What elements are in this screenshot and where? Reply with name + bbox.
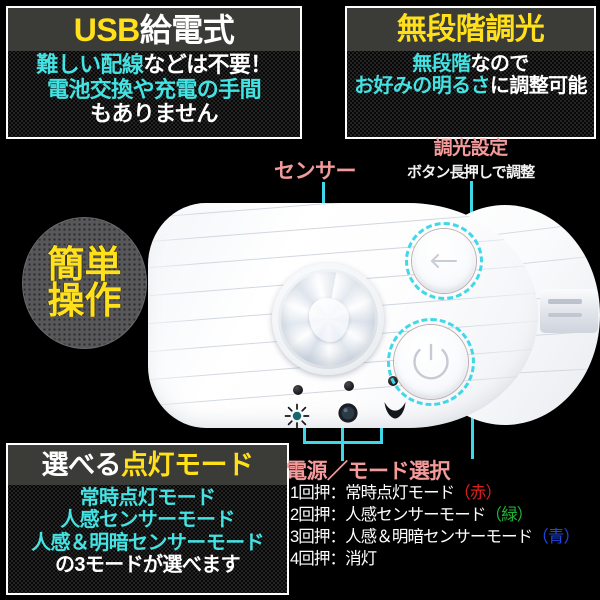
- panel-modes-header: 選べる点灯モード: [8, 445, 287, 485]
- list-item: 1回押：常時点灯モード（赤）: [290, 483, 598, 505]
- panel-usb-header: USB給電式: [8, 8, 300, 51]
- panel-dimming-line-1: 無段階なので: [347, 53, 594, 75]
- led-indicator-1: [293, 385, 303, 395]
- panel-usb-body: 難しい配線などは不要！ 電池交換や充電の手間 もありません: [8, 51, 300, 137]
- callout-sensor-label: センサー: [274, 160, 356, 183]
- power-button[interactable]: [394, 325, 468, 399]
- panel-modes-header-sub: 点灯モード: [121, 452, 254, 479]
- motion-person-icon: [336, 401, 360, 425]
- pir-sensor-dome: [272, 263, 384, 375]
- sensor-fresnel-facet: [309, 298, 349, 342]
- callout-dim-setting-sub: ボタン長押しで調整: [407, 161, 534, 182]
- panel-usb-line-2: 電池交換や充電の手間: [8, 78, 300, 103]
- panel-modes-body: 常時点灯モード 人感センサーモード 人感＆明暗センサーモード の3モードが選べま…: [8, 485, 287, 593]
- panel-dimming-line-2: お好みの明るさに調整可能: [347, 75, 594, 97]
- callout-dim-setting-title: 調光設定: [434, 138, 508, 159]
- panel-usb-header-main: USB: [74, 14, 140, 46]
- callout-power-mode-title: 電源／モード選択: [286, 460, 450, 483]
- panel-dimming-header: 無段階調光: [347, 8, 594, 51]
- sensor-lens: [281, 272, 375, 366]
- callout-sensor: センサー: [274, 155, 356, 185]
- badge-line-1: 簡単: [48, 247, 122, 283]
- infographic-canvas: USB給電式 難しい配線などは不要！ 電池交換や充電の手間 もありません 無段階…: [0, 0, 600, 600]
- leader-line-indicator-drop: [341, 441, 344, 461]
- callout-dim-setting: 調光設定 ボタン長押しで調整: [407, 133, 534, 182]
- panel-modes-line-4: の3モードが選べます: [8, 554, 287, 576]
- power-button-highlight-ring: [387, 318, 475, 406]
- panel-modes-line-1: 常時点灯モード: [8, 487, 287, 509]
- list-item: 2回押：人感センサーモード（緑）: [290, 505, 598, 527]
- dimmer-button-highlight-ring: [405, 222, 483, 300]
- panel-usb-line-1: 難しい配線などは不要！: [8, 53, 300, 78]
- panel-usb-line-3: もありません: [8, 102, 300, 127]
- device-product-image: [148, 203, 548, 428]
- dark-sensor-moon-icon: [382, 397, 408, 421]
- panel-modes-header-main: 選べる: [42, 452, 122, 479]
- brightness-sun-icon: [284, 403, 310, 429]
- list-item: 4回押：消灯: [290, 549, 598, 571]
- callout-power-mode: 電源／モード選択: [286, 455, 450, 485]
- led-indicator-2: [344, 381, 354, 391]
- panel-modes-line-3: 人感＆明暗センサーモード: [8, 532, 287, 554]
- list-item: 3回押：人感＆明暗センサーモード（青）: [290, 527, 598, 549]
- panel-usb-power: USB給電式 難しい配線などは不要！ 電池交換や充電の手間 もありません: [6, 6, 302, 139]
- panel-modes-line-2: 人感センサーモード: [8, 509, 287, 531]
- panel-dimming-body: 無段階なので お好みの明るさに調整可能: [347, 51, 594, 137]
- dimmer-button[interactable]: [412, 229, 476, 293]
- panel-dimming-header-text: 無段階調光: [397, 15, 545, 45]
- usb-cable-connector: [540, 289, 598, 333]
- easy-operation-badge: 簡単 操作: [22, 217, 147, 349]
- panel-lighting-modes: 選べる点灯モード 常時点灯モード 人感センサーモード 人感＆明暗センサーモード …: [6, 443, 289, 595]
- panel-usb-header-sub: 給電式: [140, 14, 235, 46]
- press-sequence-list: 1回押：常時点灯モード（赤） 2回押：人感センサーモード（緑） 3回押：人感＆明…: [290, 483, 598, 571]
- badge-line-2: 操作: [48, 283, 122, 319]
- panel-stepless-dimming: 無段階調光 無段階なので お好みの明るさに調整可能: [345, 6, 596, 139]
